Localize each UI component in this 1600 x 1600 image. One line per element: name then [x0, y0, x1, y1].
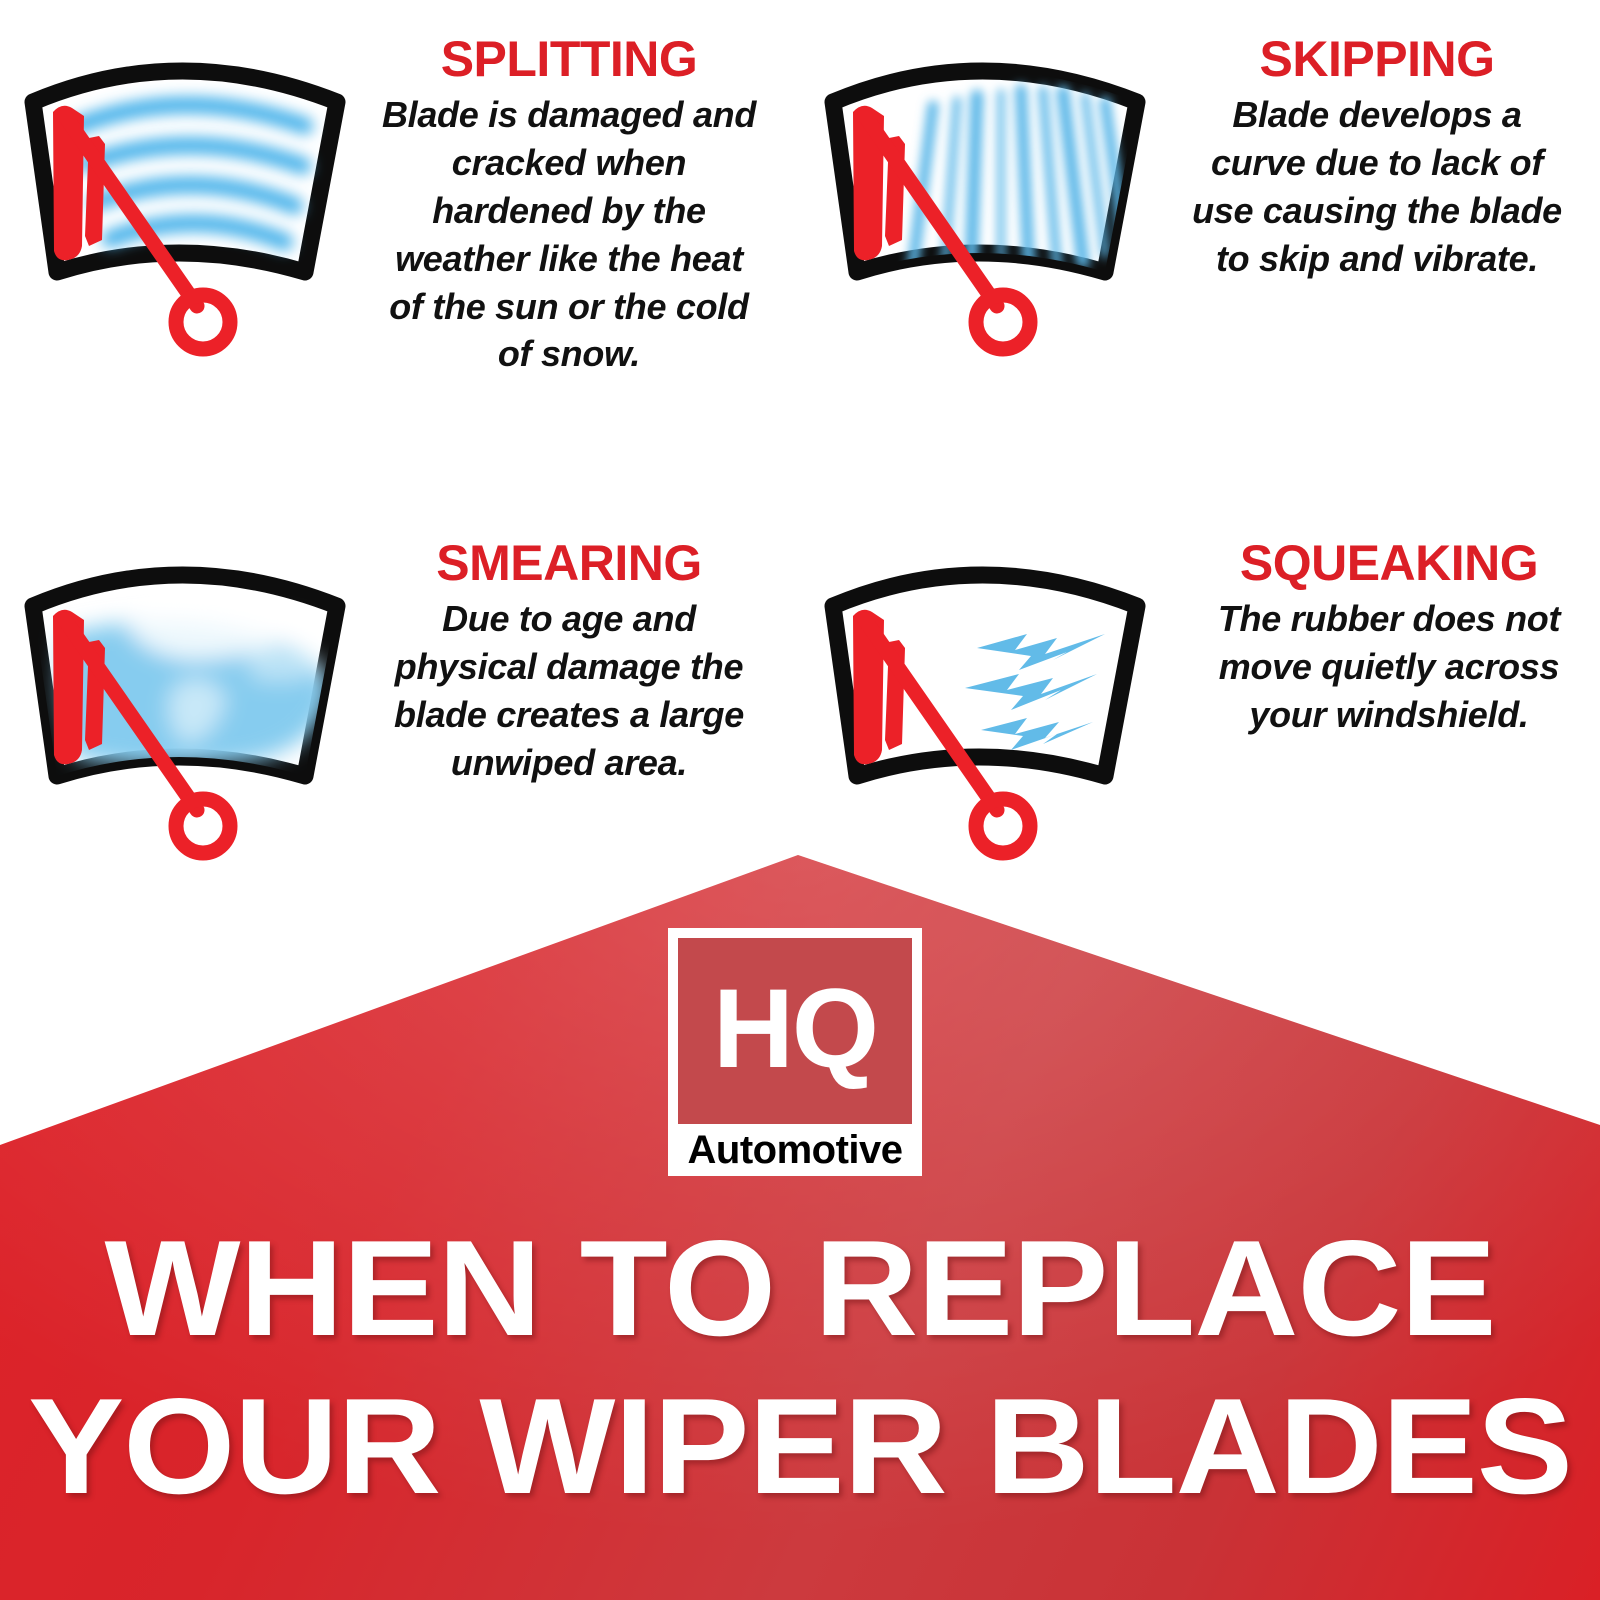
hq-automotive-logo: HQ Automotive	[668, 928, 922, 1176]
symptom-title: SPLITTING	[376, 34, 762, 85]
symptom-text-splitting: SPLITTING Blade is damaged and cracked w…	[376, 34, 776, 378]
symptom-description: Blade develops a curve due to lack of us…	[1184, 91, 1570, 283]
symptom-title: SKIPPING	[1184, 34, 1570, 85]
wiper-windshield-smearing-icon	[0, 538, 370, 868]
headline-line-1: WHEN TO REPLACE	[0, 1210, 1600, 1368]
wiper-windshield-splitting-icon	[0, 34, 370, 364]
logo-subtitle: Automotive	[678, 1124, 912, 1176]
logo-mark-text: HQ	[713, 979, 877, 1080]
symptom-card-squeaking: SQUEAKING The rubber does not move quiet…	[800, 520, 1600, 860]
symptom-text-squeaking: SQUEAKING The rubber does not move quiet…	[1206, 538, 1586, 739]
wiper-windshield-squeaking-icon	[800, 538, 1170, 868]
logo-mark-box: HQ	[678, 938, 912, 1124]
bottom-banner: HQ Automotive WHEN TO REPLACE YOUR WIPER…	[0, 840, 1600, 1600]
symptom-text-skipping: SKIPPING Blade develops a curve due to l…	[1184, 34, 1584, 283]
symptom-card-skipping: SKIPPING Blade develops a curve due to l…	[800, 0, 1600, 520]
symptom-description: Due to age and physical damage the blade…	[376, 595, 762, 787]
headline-line-2: YOUR WIPER BLADES	[0, 1368, 1600, 1526]
symptom-text-smearing: SMEARING Due to age and physical damage …	[376, 538, 776, 787]
symptom-grid: SPLITTING Blade is damaged and cracked w…	[0, 0, 1600, 860]
wiper-windshield-skipping-icon	[800, 34, 1170, 364]
symptom-description: The rubber does not move quietly across …	[1206, 595, 1572, 739]
symptom-description: Blade is damaged and cracked when harden…	[376, 91, 762, 378]
symptom-card-splitting: SPLITTING Blade is damaged and cracked w…	[0, 0, 800, 520]
symptom-title: SMEARING	[376, 538, 762, 589]
banner-headline: WHEN TO REPLACE YOUR WIPER BLADES	[0, 1210, 1600, 1526]
symptom-card-smearing: SMEARING Due to age and physical damage …	[0, 520, 800, 860]
symptom-title: SQUEAKING	[1206, 538, 1572, 589]
